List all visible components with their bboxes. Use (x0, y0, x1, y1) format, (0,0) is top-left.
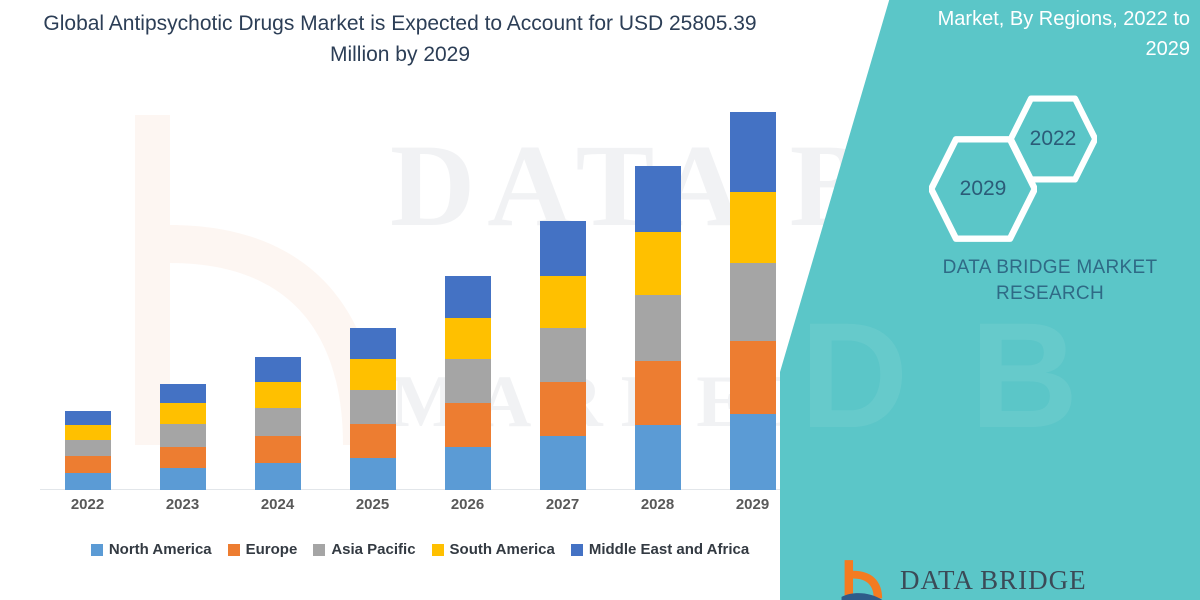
legend-item[interactable]: Asia Pacific (313, 541, 415, 558)
hexagon-2022-label: 2022 (1030, 127, 1077, 151)
x-tick-2023: 2023 (135, 496, 230, 513)
bar-segment[interactable] (255, 463, 301, 490)
hexagon-group: 2029 2022 (925, 95, 1125, 240)
bar-column-2025[interactable] (325, 100, 420, 490)
hexagon-2029-label: 2029 (960, 177, 1007, 201)
brand-name: DATA BRIDGE MARKET RESEARCH (910, 255, 1190, 307)
legend-item[interactable]: North America (91, 541, 212, 558)
bar-segment[interactable] (350, 328, 396, 359)
legend-swatch-icon (313, 544, 325, 556)
logo-mark-icon (840, 558, 886, 600)
bar-segment[interactable] (160, 403, 206, 424)
x-axis-tick-labels: 20222023202420252026202720282029 (40, 496, 800, 513)
legend-swatch-icon (91, 544, 103, 556)
bar-segment[interactable] (445, 318, 491, 359)
legend-label: North America (109, 541, 212, 558)
bar-segment[interactable] (730, 112, 776, 192)
bar-segment[interactable] (635, 425, 681, 490)
bar-segment[interactable] (350, 424, 396, 458)
panel-ghost-letter-1: D (800, 300, 910, 450)
legend-swatch-icon (432, 544, 444, 556)
legend-label: Asia Pacific (331, 541, 415, 558)
bar-segment[interactable] (255, 408, 301, 436)
bar-segment[interactable] (635, 232, 681, 295)
bar-segment[interactable] (635, 295, 681, 361)
legend-swatch-icon (228, 544, 240, 556)
stacked-bar[interactable] (160, 384, 206, 490)
bar-segment[interactable] (160, 384, 206, 404)
legend-item[interactable]: Europe (228, 541, 298, 558)
bar-segment[interactable] (540, 436, 586, 490)
bar-column-2022[interactable] (40, 100, 135, 490)
bar-segment[interactable] (635, 166, 681, 232)
bar-segment[interactable] (350, 458, 396, 491)
infographic-canvas: DATA BRIDGE MARKET RESEARCH Global Antip… (0, 0, 1200, 600)
bar-segment[interactable] (730, 263, 776, 341)
stacked-bar[interactable] (540, 221, 586, 490)
hexagon-2022: 2022 (1009, 95, 1097, 183)
bar-segment[interactable] (160, 468, 206, 490)
bar-segment[interactable] (160, 424, 206, 447)
chart-legend: North AmericaEuropeAsia PacificSouth Ame… (40, 541, 800, 558)
bar-segment[interactable] (730, 414, 776, 490)
bar-column-2028[interactable] (610, 100, 705, 490)
bar-column-2024[interactable] (230, 100, 325, 490)
legend-item[interactable]: Middle East and Africa (571, 541, 749, 558)
bar-segment[interactable] (255, 436, 301, 463)
bar-segment[interactable] (730, 192, 776, 262)
bar-segment[interactable] (445, 403, 491, 446)
bar-segment[interactable] (65, 473, 111, 490)
bar-segment[interactable] (730, 341, 776, 415)
stacked-bar[interactable] (730, 112, 776, 490)
panel-title: Global Antipsychotic Drugs Market, By Re… (860, 0, 1190, 64)
bar-segment[interactable] (160, 447, 206, 469)
bar-segment[interactable] (255, 357, 301, 382)
panel-ghost-letter-2: B (970, 300, 1080, 450)
bar-column-2023[interactable] (135, 100, 230, 490)
bar-segment[interactable] (445, 359, 491, 403)
bar-column-2027[interactable] (515, 100, 610, 490)
x-tick-2024: 2024 (230, 496, 325, 513)
bar-segment[interactable] (65, 425, 111, 440)
bar-segment[interactable] (65, 411, 111, 425)
bar-segment[interactable] (255, 382, 301, 408)
bar-segment[interactable] (540, 276, 586, 328)
x-tick-2029: 2029 (705, 496, 800, 513)
stacked-bar[interactable] (255, 357, 301, 490)
legend-label: Middle East and Africa (589, 541, 749, 558)
logo-text: DATA BRIDGE (900, 565, 1087, 596)
legend-item[interactable]: South America (432, 541, 555, 558)
stacked-bar-chart (40, 100, 800, 490)
stacked-bar[interactable] (445, 276, 491, 490)
bar-segment[interactable] (635, 361, 681, 425)
x-tick-2022: 2022 (40, 496, 135, 513)
bar-segment[interactable] (350, 390, 396, 424)
legend-label: Europe (246, 541, 298, 558)
bar-segment[interactable] (350, 359, 396, 390)
page-title: Global Antipsychotic Drugs Market is Exp… (40, 8, 760, 70)
stacked-bar[interactable] (635, 166, 681, 490)
bar-segment[interactable] (445, 447, 491, 490)
x-tick-2026: 2026 (420, 496, 515, 513)
bar-segment[interactable] (540, 221, 586, 275)
company-logo: DATA BRIDGE (840, 558, 1087, 600)
bar-segment[interactable] (540, 382, 586, 436)
bar-segment[interactable] (65, 456, 111, 472)
x-tick-2028: 2028 (610, 496, 705, 513)
bar-segment[interactable] (65, 440, 111, 456)
x-tick-2025: 2025 (325, 496, 420, 513)
bar-group (40, 100, 800, 490)
stacked-bar[interactable] (65, 411, 111, 490)
stacked-bar[interactable] (350, 328, 396, 490)
bar-segment[interactable] (445, 276, 491, 318)
legend-label: South America (450, 541, 555, 558)
bar-segment[interactable] (540, 328, 586, 382)
bar-column-2026[interactable] (420, 100, 515, 490)
legend-swatch-icon (571, 544, 583, 556)
x-tick-2027: 2027 (515, 496, 610, 513)
